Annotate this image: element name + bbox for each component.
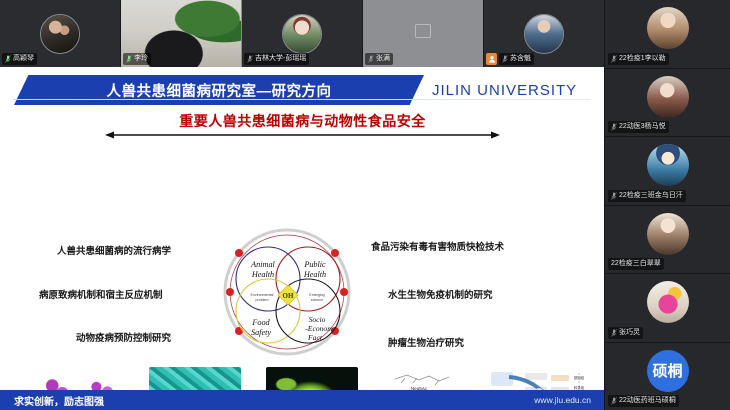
participant-name-badge: 张满	[365, 53, 393, 65]
participant-name: 张巧灵	[619, 327, 640, 339]
participant-name-badge: 22检疫三班金乌日汗	[608, 190, 686, 202]
sidebar-participant-5[interactable]: 张巧灵	[605, 274, 730, 343]
one-health-venn-diagram: OH Animal Health Public Health Food Safe…	[205, 227, 370, 357]
participant-name-badge: 吉林大学-彭瑶瑶	[244, 53, 309, 65]
participant-name-badge: 22动医药班马硕桐	[608, 395, 679, 407]
participant-name-badge: 22检疫1李以勒	[608, 53, 669, 65]
host-badge-icon	[486, 53, 497, 65]
research-label-right-2: 水生生物免疫机制的研究	[388, 287, 493, 301]
svg-text:基因组: 基因组	[574, 375, 585, 380]
research-label-left-3: 动物疫病预防控制研究	[76, 330, 171, 344]
sidebar-participant-4[interactable]: 22检疫三白翠翠	[605, 206, 730, 275]
avatar	[40, 14, 80, 54]
microphone-muted-icon	[611, 123, 617, 131]
participant-name-badge: 22动医3杨马悦	[608, 121, 669, 133]
sidebar-participant-6[interactable]: 硕桐 22动医药班马硕桐	[605, 343, 730, 410]
participant-name: 苏含魁	[510, 53, 531, 65]
video-conference-window: 高颖琴 李玲	[0, 0, 730, 410]
participant-tile-2[interactable]: 李玲	[121, 0, 242, 67]
slide-banner-blue: 人兽共患细菌病研究室—研究方向	[14, 75, 424, 105]
avatar	[647, 144, 689, 186]
microphone-muted-icon	[368, 55, 374, 63]
avatar	[524, 14, 564, 54]
avatar	[282, 14, 322, 54]
svg-text:Animal: Animal	[250, 260, 275, 269]
participant-name: 22检疫三白翠翠	[611, 258, 661, 270]
microphone-muted-icon	[247, 55, 253, 63]
banner-underline	[14, 99, 591, 100]
document-icon	[415, 24, 431, 38]
slide-subtitle: 重要人兽共患细菌病与动物性食品安全	[0, 111, 605, 131]
svg-text:Emerging: Emerging	[309, 293, 324, 297]
participant-tile-1[interactable]: 高颖琴	[0, 0, 121, 67]
avatar-initials: 硕桐	[647, 350, 689, 392]
participant-name: 22检疫三班金乌日汗	[619, 190, 683, 202]
participant-name: 张满	[376, 53, 390, 65]
microphone-muted-icon	[126, 55, 132, 63]
footer-slogan: 求实创新，励志图强	[14, 393, 104, 408]
microphone-muted-icon	[611, 329, 617, 337]
avatar	[647, 213, 689, 255]
footer-url: www.jlu.edu.cn	[534, 395, 591, 405]
participant-name: 吉林大学-彭瑶瑶	[255, 53, 306, 65]
microphone-muted-icon	[5, 55, 11, 63]
participant-name: 李玲	[134, 53, 148, 65]
participant-name-badge: 高颖琴	[2, 53, 37, 65]
microphone-muted-icon	[611, 192, 617, 200]
participant-name: 22检疫1李以勒	[619, 53, 666, 65]
sidebar-participant-3[interactable]: 22检疫三班金乌日汗	[605, 137, 730, 206]
svg-text:Public: Public	[303, 260, 326, 269]
research-label-right-1: 食品污染有毒有害物质快检技术	[371, 239, 504, 253]
svg-text:Fact: Fact	[307, 333, 323, 342]
participant-name: 22动医药班马硕桐	[619, 395, 676, 407]
svg-text:problem: problem	[256, 298, 269, 302]
participant-name-badge: 苏含魁	[499, 53, 534, 65]
svg-text:Socio: Socio	[309, 315, 326, 324]
participant-name-badge: 张巧灵	[608, 327, 643, 339]
svg-text:Safety: Safety	[251, 328, 271, 337]
avatar	[647, 7, 689, 49]
research-label-left-1: 人兽共患细菌病的流行病学	[57, 243, 171, 257]
participant-name: 高颖琴	[13, 53, 34, 65]
horizontal-arrow-rule	[105, 131, 500, 139]
participant-name-badge: 李玲	[123, 53, 151, 65]
participant-tile-4[interactable]: 张满	[363, 0, 484, 67]
svg-text:OH: OH	[283, 292, 294, 300]
avatar	[647, 281, 689, 323]
university-name: JILIN UNIVERSITY	[432, 75, 577, 105]
participant-tile-3[interactable]: 吉林大学-彭瑶瑶	[242, 0, 363, 67]
sidebar-participant-2[interactable]: 22动医3杨马悦	[605, 69, 730, 138]
svg-text:science: science	[311, 298, 323, 302]
svg-text:Health: Health	[251, 270, 274, 279]
microphone-muted-icon	[611, 55, 617, 63]
research-label-right-3: 肿瘤生物治疗研究	[388, 335, 464, 349]
participant-name-badge: 22检疫三白翠翠	[608, 258, 664, 270]
participant-name: 22动医3杨马悦	[619, 121, 666, 133]
svg-text:Environmental: Environmental	[251, 293, 274, 297]
microphone-muted-icon	[502, 55, 508, 63]
research-label-left-2: 病原致病机制和宿主反应机制	[39, 287, 163, 301]
svg-text:Health: Health	[303, 270, 326, 279]
svg-text:-Econom: -Econom	[305, 324, 333, 333]
avatar	[647, 76, 689, 118]
participant-tile-5[interactable]: 苏含魁	[484, 0, 605, 67]
microphone-muted-icon	[611, 397, 617, 405]
svg-text:Food: Food	[251, 318, 270, 327]
avatar: 硕桐	[647, 350, 689, 392]
slide-banner: 人兽共患细菌病研究室—研究方向 JILIN UNIVERSITY	[0, 75, 605, 105]
shared-screen-slide[interactable]: 人兽共患细菌病研究室—研究方向 JILIN UNIVERSITY 重要人兽共患细…	[0, 67, 605, 410]
sidebar-participant-1[interactable]: 22检疫1李以勒	[605, 0, 730, 69]
participant-strip-top: 高颖琴 李玲	[0, 0, 605, 67]
slide-title: 人兽共患细菌病研究室—研究方向	[107, 80, 332, 101]
participant-sidebar[interactable]: 22检疫1李以勒 22动医3杨马悦	[605, 0, 730, 410]
slide-footer: 求实创新，励志图强 www.jlu.edu.cn	[0, 390, 605, 410]
